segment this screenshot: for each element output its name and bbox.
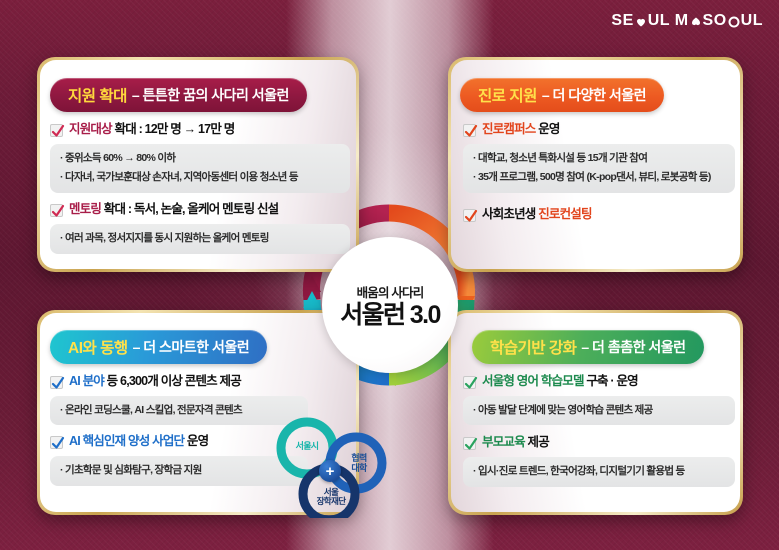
- bullet-item: 부모교육 제공: [463, 435, 735, 451]
- sub-detail-box: · 아동 발달 단계에 맞는 영어학습 콘텐츠 제공: [463, 396, 735, 426]
- bullet-highlight: 지원대상: [69, 122, 112, 136]
- bullet-rest: 운영: [538, 122, 559, 136]
- bullet-highlight: 진로캠퍼스: [482, 122, 536, 136]
- bullet-text: 멘토링 확대 : 독서, 논술, 올케어 멘토링 신설: [69, 202, 278, 218]
- header-rest-ai-companion: – 더 스마트한 서울런: [133, 337, 250, 357]
- check-icon: [50, 204, 63, 217]
- sub-detail-box: · 기초학문 및 심화탐구, 장학금 지원: [50, 456, 308, 486]
- logo-text-part2: UL M: [648, 12, 689, 30]
- header-strong-career-support: 진로 지원: [478, 84, 537, 106]
- sub-detail-box: · 중위소득 60% → 80% 이하 · 다자녀, 국가보훈대상 손자녀, 지…: [50, 144, 350, 194]
- central-hub: 배움의 사다리 서울런 3.0: [300, 215, 480, 395]
- sub-detail-line: · 대학교, 청소년 특화시설 등 15개 기관 참여: [473, 151, 725, 167]
- card-header-learning-foundation: 학습기반 강화 – 더 촘촘한 서울런: [472, 330, 704, 364]
- sub-detail-line: · 기초학문 및 심화탐구, 장학금 지원: [60, 463, 298, 479]
- venn-label-seoul-city: 서울시: [284, 442, 330, 452]
- sub-detail-box: · 온라인 코딩스쿨, AI 스킬업, 전문자격 콘텐츠: [50, 396, 308, 426]
- central-hub-circle: 배움의 사다리 서울런 3.0: [322, 237, 458, 373]
- venn-label-scholarship-foundation: 서울장학재단: [304, 488, 358, 507]
- header-rest-learning-foundation: – 더 촘촘한 서울런: [581, 337, 685, 357]
- bullet-highlight: 부모교육: [482, 435, 525, 449]
- bullet-text: AI 핵심인재 양성 사업단 운영: [69, 434, 208, 450]
- bullet-highlight: AI 분야: [69, 374, 104, 388]
- header-rest-support-expansion: – 튼튼한 꿈의 사다리 서울런: [132, 85, 289, 105]
- header-strong-support-expansion: 지원 확대: [68, 84, 127, 106]
- sub-detail-line: · 여러 과목, 정서지지를 동시 지원하는 올케어 멘토링: [60, 231, 340, 247]
- bullet-highlight: AI 핵심인재 양성 사업단: [69, 434, 184, 448]
- bullet-text: 사회초년생 진로컨설팅: [482, 207, 592, 223]
- plus-icon: +: [319, 460, 341, 482]
- check-icon: [463, 437, 476, 450]
- card-body-learning-foundation: 서울형 영어 학습모델 구축 · 운영 · 아동 발달 단계에 맞는 영어학습 …: [463, 374, 735, 496]
- bullet-text: 부모교육 제공: [482, 435, 549, 451]
- check-icon: [50, 436, 63, 449]
- venn-labels: 서울시 협력대학 서울장학재단 +: [272, 406, 390, 518]
- central-title: 서울런 3.0: [340, 303, 440, 328]
- sub-detail-line: · 아동 발달 단계에 맞는 영어학습 콘텐츠 제공: [473, 403, 725, 419]
- header-strong-ai-companion: AI와 동행: [68, 336, 128, 358]
- sub-detail-line: · 온라인 코딩스쿨, AI 스킬업, 전문자격 콘텐츠: [60, 403, 298, 419]
- sub-detail-box: · 대학교, 청소년 특화시설 등 15개 기관 참여 · 35개 프로그램, …: [463, 144, 735, 194]
- check-icon: [50, 124, 63, 137]
- check-icon: [50, 376, 63, 389]
- card-header-support-expansion: 지원 확대 – 튼튼한 꿈의 사다리 서울런: [50, 78, 307, 112]
- heart-icon: [635, 16, 647, 28]
- card-body-career-support: 진로캠퍼스 운영 · 대학교, 청소년 특화시설 등 15개 기관 참여 · 3…: [463, 122, 735, 229]
- bullet-highlight: 멘토링: [69, 202, 101, 216]
- header-rest-career-support: – 더 다양한 서울런: [542, 85, 646, 105]
- logo-text-part4: UL: [741, 12, 763, 30]
- bullet-item: 사회초년생 진로컨설팅: [463, 207, 735, 223]
- seoul-my-soul-logo: SE UL M SO UL: [611, 12, 763, 30]
- sub-detail-line: · 다자녀, 국가보훈대상 손자녀, 지역아동센터 이용 청소년 등: [60, 170, 340, 186]
- header-strong-learning-foundation: 학습기반 강화: [490, 336, 576, 358]
- card-header-career-support: 진로 지원 – 더 다양한 서울런: [460, 78, 664, 112]
- bullet-text: AI 분야 등 6,300개 이상 콘텐츠 제공: [69, 374, 241, 390]
- bullet-item: 지원대상 확대 : 12만 명 → 17만 명: [50, 122, 350, 138]
- bullet-rest: 제공: [528, 435, 549, 449]
- bullet-highlight-suffix: 진로컨설팅: [538, 207, 592, 221]
- venn-label-partner-university: 협력대학: [336, 454, 382, 474]
- bullet-rest: 확대 : 12만 명 → 17만 명: [115, 122, 235, 136]
- bullet-prefix: 사회초년생: [482, 207, 538, 221]
- infographic-root: SE UL M SO UL: [0, 0, 779, 550]
- logo-text-part3: SO: [703, 12, 727, 30]
- bullet-text: 지원대상 확대 : 12만 명 → 17만 명: [69, 122, 234, 138]
- bullet-text: 서울형 영어 학습모델 구축 · 운영: [482, 374, 638, 390]
- inverted-heart-icon: [690, 16, 702, 28]
- sub-detail-line: · 입시·진로 트렌드, 한국어강좌, 디지털기기 활용법 등: [473, 464, 725, 480]
- bullet-item: 서울형 영어 학습모델 구축 · 운영: [463, 374, 735, 390]
- bullet-rest: 구축 · 운영: [586, 374, 638, 388]
- sub-detail-box: · 입시·진로 트렌드, 한국어강좌, 디지털기기 활용법 등: [463, 457, 735, 487]
- bullet-highlight: 서울형 영어 학습모델: [482, 374, 584, 388]
- sub-detail-line: · 35개 프로그램, 500명 참여 (K-pop댄서, 뷰티, 로봇공학 등…: [473, 170, 725, 186]
- bullet-rest: 등 6,300개 이상 콘텐츠 제공: [107, 374, 241, 388]
- smile-o-icon: [728, 16, 740, 28]
- check-icon: [463, 124, 476, 137]
- bullet-text: 진로캠퍼스 운영: [482, 122, 560, 138]
- central-subtitle: 배움의 사다리: [357, 282, 424, 301]
- bullet-rest: 운영: [187, 434, 208, 448]
- sub-detail-line: · 중위소득 60% → 80% 이하: [60, 151, 340, 167]
- bullet-item: 진로캠퍼스 운영: [463, 122, 735, 138]
- logo-text-part1: SE: [611, 12, 633, 30]
- bullet-rest: 확대 : 독서, 논술, 올케어 멘토링 신설: [104, 202, 279, 216]
- card-header-ai-companion: AI와 동행 – 더 스마트한 서울런: [50, 330, 267, 364]
